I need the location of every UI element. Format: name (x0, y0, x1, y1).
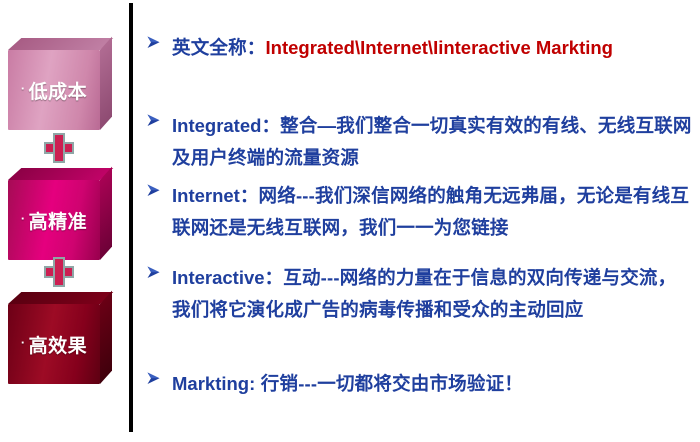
cube-label-text: 高精准 (29, 207, 88, 234)
bullet-item-fullname: 英文全称：Integrated\Internet\Iinteractive Ma… (146, 32, 694, 64)
cube-bullet-dot: · (21, 336, 26, 349)
cube-side-face (100, 37, 112, 130)
bullet-item-interactive: Interactive：互动---网络的力量在于信息的双向传递与交流，我们将它演… (146, 262, 694, 326)
bullet-text-integrated: Integrated：整合—我们整合一切真实有效的有线、无线互联网及用户终端的流… (172, 110, 694, 174)
vertical-divider (129, 3, 133, 432)
cube-low-cost[interactable]: · 低成本 (8, 38, 112, 130)
bullet-item-internet: Internet：网络---我们深信网络的触角无远弗届，无论是有线互联网还是无线… (146, 180, 694, 244)
cube-high-effect[interactable]: · 高效果 (8, 292, 112, 384)
arrow-bullet-icon (146, 262, 172, 280)
cube-top-face (8, 38, 113, 50)
arrow-bullet-icon (146, 368, 172, 386)
bullet-text-internet: Internet：网络---我们深信网络的触角无远弗届，无论是有线互联网还是无线… (172, 180, 694, 244)
bullet-text-markting: Markting: 行销---一切都将交由市场验证！ (172, 368, 694, 400)
cube-top-face (8, 292, 113, 304)
bullet-lead: Integrated (172, 115, 261, 136)
bullet-rest: ：网络---我们深信网络的触角无远弗届，无论是有线互联网还是无线互联网，我们一一… (172, 185, 689, 238)
cube-label-wrap: · 低成本 (8, 50, 100, 130)
bullet-accent-text: Integrated\Internet\Iinteractive Marktin… (266, 37, 613, 58)
cube-side-face (100, 291, 112, 384)
cube-label-text: 低成本 (29, 77, 88, 104)
bullet-item-integrated: Integrated：整合—我们整合一切真实有效的有线、无线互联网及用户终端的流… (146, 110, 694, 174)
bullet-lead: Interactive (172, 267, 265, 288)
slide-canvas: · 低成本 · 高精准 (0, 0, 700, 442)
left-column: · 低成本 · 高精准 (0, 0, 130, 442)
bullet-list: 英文全称：Integrated\Internet\Iinteractive Ma… (146, 0, 700, 442)
cube-label-text: 高效果 (29, 331, 88, 358)
cube-bullet-dot: · (21, 82, 26, 95)
bullet-lead: Markting (172, 373, 249, 394)
cube-top-face (8, 168, 113, 180)
cube-label-wrap: · 高精准 (8, 180, 100, 260)
plus-center-fill (55, 268, 63, 276)
cube-bullet-dot: · (21, 212, 26, 225)
plus-connector-icon-1 (44, 133, 74, 163)
cube-side-face (100, 167, 112, 260)
bullet-rest: : 行销---一切都将交由市场验证！ (249, 373, 523, 394)
cube-label-wrap: · 高效果 (8, 304, 100, 384)
arrow-bullet-icon (146, 32, 172, 50)
cube-high-precision[interactable]: · 高精准 (8, 168, 112, 260)
bullet-text-fullname: 英文全称：Integrated\Internet\Iinteractive Ma… (172, 32, 694, 64)
bullet-lead: Internet (172, 185, 240, 206)
arrow-bullet-icon (146, 110, 172, 128)
bullet-item-markting: Markting: 行销---一切都将交由市场验证！ (146, 368, 694, 400)
plus-center-fill (55, 144, 63, 152)
plus-connector-icon-2 (44, 257, 74, 287)
bullet-text-interactive: Interactive：互动---网络的力量在于信息的双向传递与交流，我们将它演… (172, 262, 694, 326)
bullet-lead: 英文全称： (172, 37, 266, 58)
arrow-bullet-icon (146, 180, 172, 198)
